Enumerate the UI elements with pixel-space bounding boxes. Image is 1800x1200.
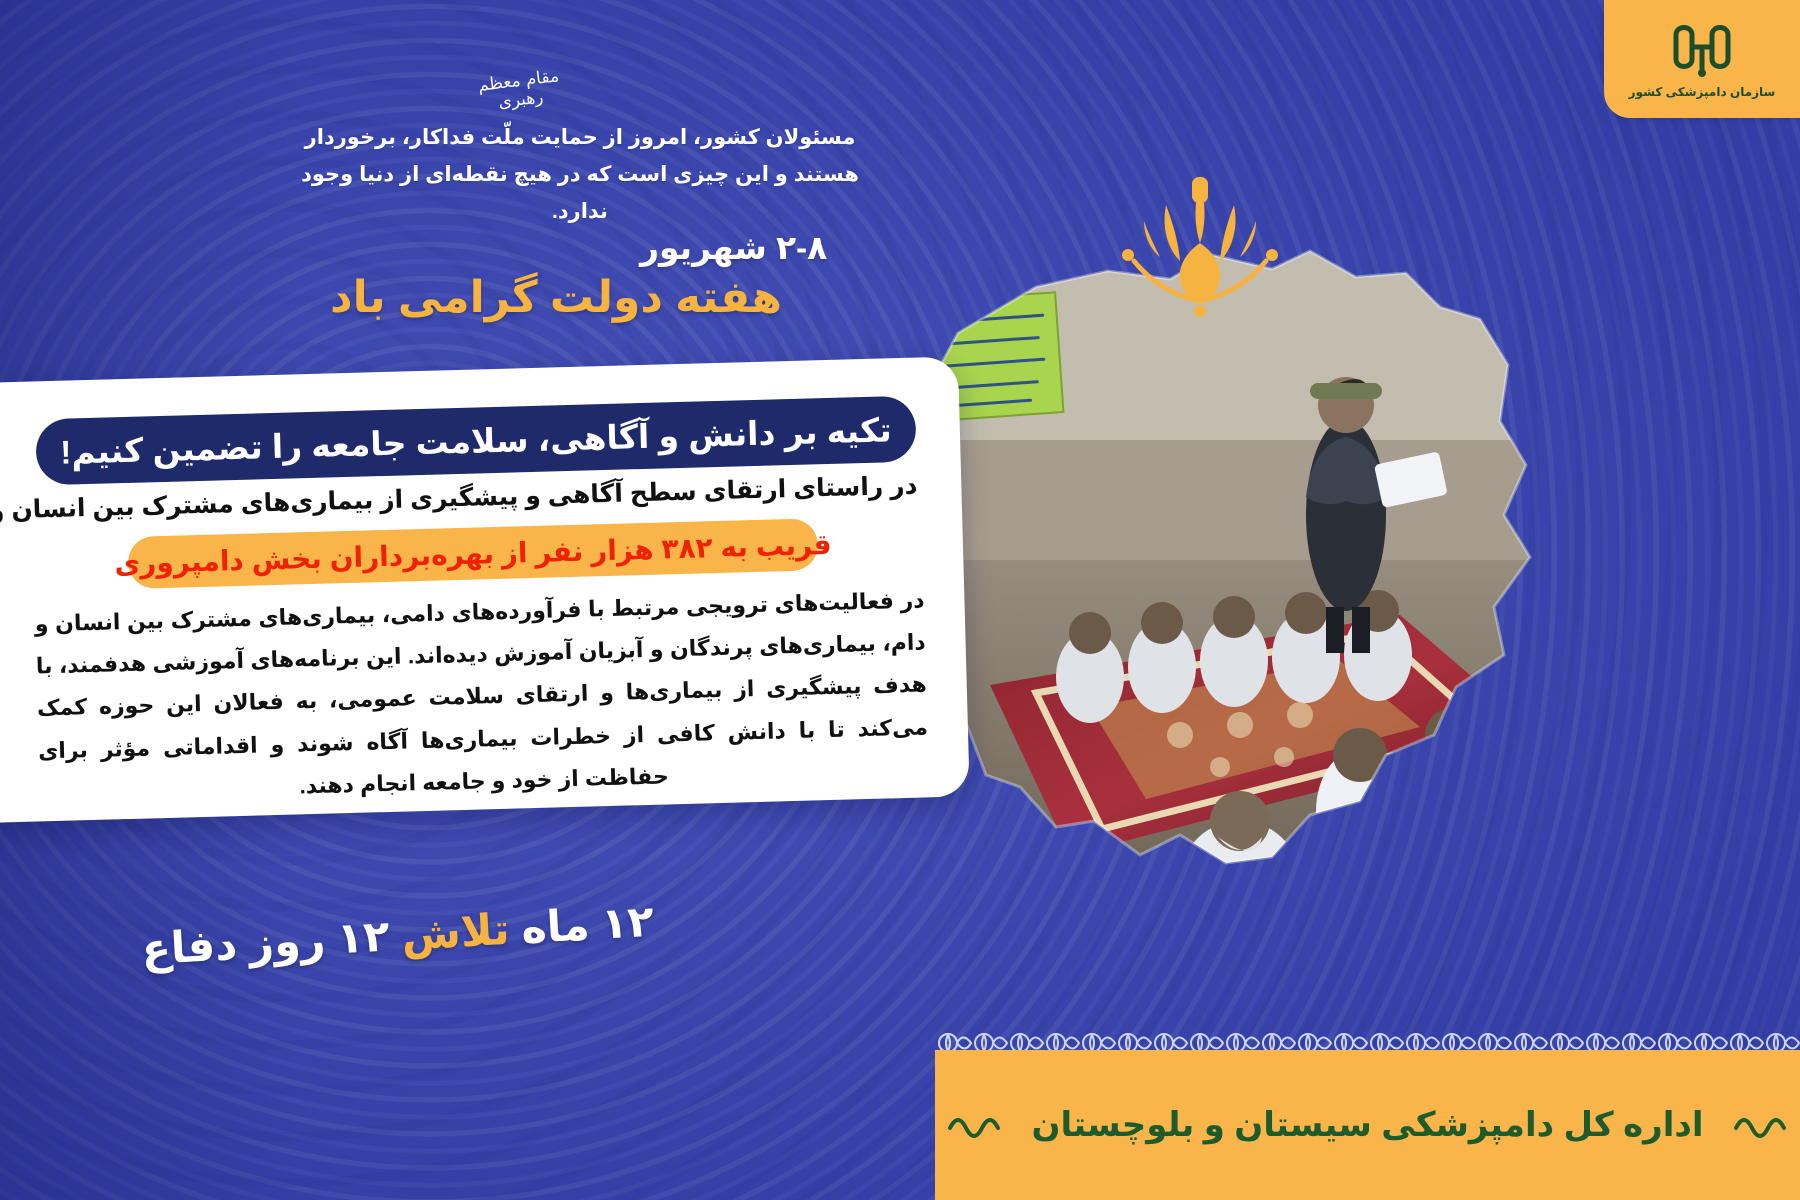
leader-quote-text: مسئولان کشور، امروز از حمایت ملّت فداکار… [300, 120, 860, 230]
ivo-veterinary-logo-icon [1666, 19, 1738, 81]
main-content-card-inner: تکیه بر دانش و آگاهی، سلامت جامعه را تضم… [0, 356, 970, 823]
government-week-title: هفته دولت گرامی باد [330, 272, 870, 323]
slogan-part-two: تلاش [388, 905, 523, 960]
footer-swirl-right-icon [1730, 1108, 1792, 1143]
islamic-republic-of-iran-emblem-icon [1105, 165, 1295, 325]
poster-root: سازمان دامپزشکی کشور مقام معظم رهبری مسئ… [0, 0, 1800, 1200]
statistic-highlight-pill: قریب به ۳۸۲ هزار نفر از بهره‌برداران بخش… [127, 518, 818, 589]
government-week-date: ۲-۸ شهریور [640, 228, 870, 267]
body-paragraph: در فعالیت‌های ترویجی مرتبط با فرآورده‌ها… [34, 579, 929, 814]
headline-text: تکیه بر دانش و آگاهی، سلامت جامعه را تضم… [60, 410, 892, 471]
organization-badge: سازمان دامپزشکی کشور [1604, 0, 1800, 118]
footer-organization-name: اداره کل دامپزشکی سیستان و بلوچستان [1032, 1105, 1704, 1145]
footer-organization-bar: اداره کل دامپزشکی سیستان و بلوچستان [935, 1050, 1800, 1200]
slogan-part-one: ۱۲ ماه [520, 898, 655, 953]
statistic-text: قریب به ۳۸۲ هزار نفر از بهره‌برداران بخش… [114, 527, 832, 579]
headline-banner: تکیه بر دانش و آگاهی، سلامت جامعه را تضم… [35, 396, 916, 486]
footer-swirl-left-icon [944, 1108, 1006, 1143]
organization-badge-caption: سازمان دامپزشکی کشور [1629, 85, 1776, 99]
